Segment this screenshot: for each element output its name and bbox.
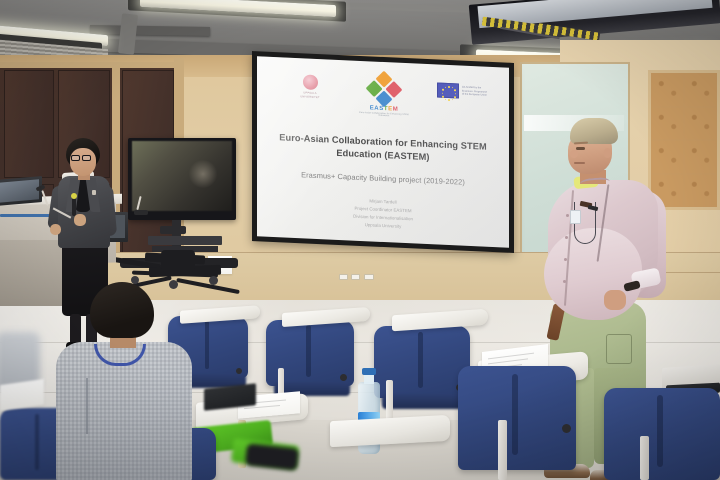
eastem-logo: EASTEM Euro-Asian Collaboration for Enha… xyxy=(357,75,411,118)
man-shirt-front xyxy=(544,228,642,320)
chair-back-front-right[interactable] xyxy=(604,388,720,480)
eastem-word-part: EAS xyxy=(370,105,384,112)
woman-face xyxy=(70,148,96,176)
chair-seat[interactable] xyxy=(382,394,466,409)
eu-logo-text: Co-funded by the Erasmus+ Programme of t… xyxy=(462,85,487,98)
chair-knob xyxy=(340,374,347,381)
paper-text-line xyxy=(488,358,528,364)
eu-erasmus-logo: Co-funded by the Erasmus+ Programme of t… xyxy=(437,82,499,100)
chair-back-front-center[interactable] xyxy=(458,366,576,470)
projection-screen: UPPSALA UNIVERSITET EASTEM Euro-Asian Co… xyxy=(252,51,514,253)
eastem-diamond-icon xyxy=(366,71,403,108)
microphone-base-2 xyxy=(134,210,148,215)
presentation-slide: UPPSALA UNIVERSITET EASTEM Euro-Asian Co… xyxy=(257,56,509,247)
seated-shirt-fold xyxy=(86,378,88,434)
cork-cell xyxy=(652,74,683,106)
woman-name-badge xyxy=(92,190,96,195)
cart-equipment-box xyxy=(160,226,186,234)
man-hand-on-hip xyxy=(604,290,626,310)
woman-right-hand xyxy=(74,214,86,226)
cork-cell xyxy=(685,141,716,173)
cork-cell xyxy=(685,74,716,106)
slide-presenter-block: Mirjam Tardell Project Coordinator EASTE… xyxy=(293,194,473,235)
microphone-icon xyxy=(72,196,76,216)
shirt-button xyxy=(564,258,567,261)
cork-cell xyxy=(685,108,716,140)
man-cargo-pocket xyxy=(606,334,632,364)
podium-laptop-screen xyxy=(0,179,39,203)
man-hair xyxy=(570,118,618,144)
seated-attendee xyxy=(38,282,198,480)
chair-post-front-right xyxy=(640,436,649,480)
slide-subtitle: Erasmus+ Capacity Building project (2019… xyxy=(273,169,493,188)
shirt-button xyxy=(563,280,566,283)
chair-knob-front xyxy=(562,424,571,433)
eu-flag-icon xyxy=(437,82,459,98)
eu-logo-line3: of the European Union xyxy=(462,93,487,98)
wall-outlet-2[interactable] xyxy=(351,274,360,280)
man-ear xyxy=(604,148,611,158)
monitor-cart-shelf xyxy=(148,236,222,245)
slide-title: Euro-Asian Collaboration for Enhancing S… xyxy=(273,131,493,168)
photo-scene: UPPSALA UNIVERSITET EASTEM Euro-Asian Co… xyxy=(0,0,720,480)
slide-logo-row: UPPSALA UNIVERSITET EASTEM Euro-Asian Co… xyxy=(257,70,509,125)
woman-left-hand xyxy=(50,224,61,235)
wall-outlet-3[interactable] xyxy=(364,274,374,280)
cabinet-top-trim xyxy=(0,62,178,68)
shirt-button xyxy=(566,214,569,217)
university-seal-icon xyxy=(303,74,318,90)
cabinet-door-1[interactable] xyxy=(4,70,54,178)
microphone-tip xyxy=(71,193,77,199)
eyeglasses-icon xyxy=(71,155,80,161)
chair-post-front xyxy=(498,420,507,480)
man-nose xyxy=(570,150,578,158)
eastem-word-part: M xyxy=(393,106,399,112)
shirt-button xyxy=(565,236,568,239)
cork-cell xyxy=(685,175,716,207)
man-mouth xyxy=(574,162,585,164)
display-screen-glare xyxy=(188,160,218,188)
university-logo-line2: UNIVERSITET xyxy=(293,95,327,100)
uppsala-university-logo: UPPSALA UNIVERSITET xyxy=(293,74,327,100)
eyeglasses-icon-right xyxy=(82,155,91,161)
water-bottle-cap[interactable] xyxy=(362,368,376,375)
seated-hair xyxy=(90,282,154,338)
wall-outlet-1[interactable] xyxy=(339,274,348,280)
rig-body xyxy=(161,250,195,272)
rig-caster xyxy=(209,276,218,285)
chair-knob xyxy=(236,368,242,374)
man-name-badge xyxy=(570,210,581,224)
